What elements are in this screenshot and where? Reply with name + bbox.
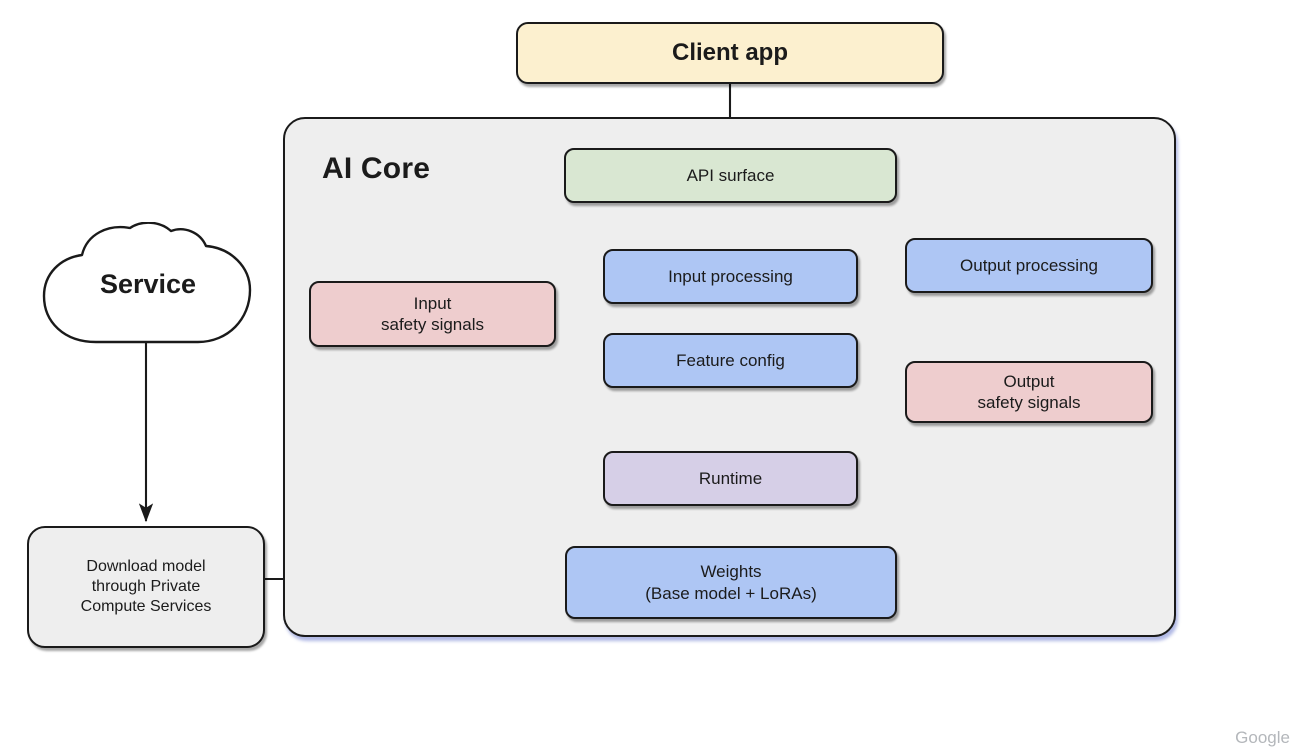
ai-core-label: AI Core xyxy=(322,152,430,186)
download-model-node[interactable]: Download model through Private Compute S… xyxy=(27,526,265,648)
client-app-node[interactable]: Client app xyxy=(516,22,944,84)
google-watermark: Google xyxy=(1235,728,1290,748)
input-processing-node[interactable]: Input processing xyxy=(603,249,858,304)
weights-node[interactable]: Weights (Base model + LoRAs) xyxy=(565,546,897,619)
feature-config-node[interactable]: Feature config xyxy=(603,333,858,388)
api-surface-node[interactable]: API surface xyxy=(564,148,897,203)
runtime-node[interactable]: Runtime xyxy=(603,451,858,506)
service-cloud-label: Service xyxy=(38,222,258,347)
input-safety-signals-node[interactable]: Input safety signals xyxy=(309,281,556,347)
output-safety-signals-node[interactable]: Output safety signals xyxy=(905,361,1153,423)
diagram-canvas: Client app AI Core API surface Input pro… xyxy=(0,0,1304,756)
output-processing-node[interactable]: Output processing xyxy=(905,238,1153,293)
